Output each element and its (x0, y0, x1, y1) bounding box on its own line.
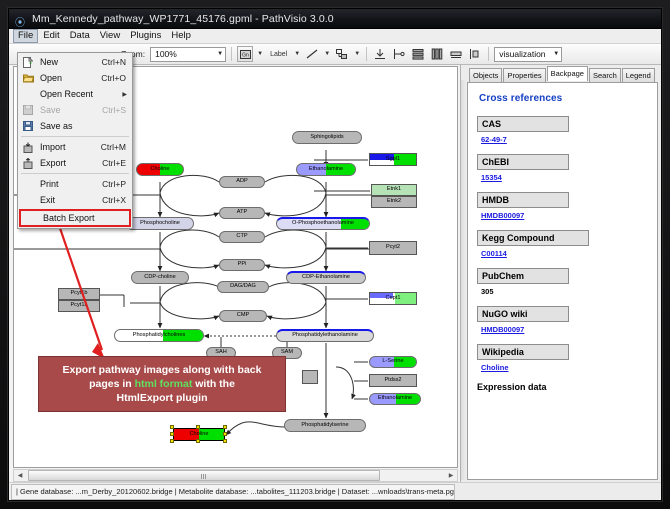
side-panel-gutter (461, 80, 466, 480)
menu-help[interactable]: Help (166, 29, 196, 43)
node-atp[interactable]: ATP (219, 207, 265, 219)
node-phosphocholine[interactable]: Phosphocholine (126, 217, 194, 230)
no-icon-4 (23, 212, 39, 225)
file-menu-dropdown[interactable]: New Ctrl+N Open Ctrl+O Open Recent ▶ Sav… (17, 52, 133, 229)
selection-handle-nw[interactable] (170, 425, 174, 429)
cross-references-title: Cross references (479, 93, 648, 104)
visualization-value: visualization (499, 49, 545, 59)
menu-item-new[interactable]: New Ctrl+N (18, 54, 132, 70)
shape-button[interactable] (334, 46, 350, 62)
label-button[interactable]: Label (267, 49, 290, 60)
scroll-right-arrow-icon[interactable]: ▶ (445, 472, 457, 479)
import-icon (20, 141, 36, 154)
side-panel-tabs[interactable]: Objects Properties Backpage Search Legen… (463, 67, 658, 82)
node-pcyt2[interactable]: Pcyt2 (369, 241, 417, 255)
node-ethanolamine-top[interactable]: Ethanolamine (296, 163, 356, 176)
node-phosphatidylcholines[interactable]: Phosphatidylcholines (114, 329, 204, 342)
node-o-phosphoethanolamine[interactable]: O-Phosphoethanolamine (276, 217, 370, 230)
tab-legend[interactable]: Legend (622, 68, 655, 82)
node-cept1[interactable]: Cept1 (369, 292, 417, 305)
node-cmp[interactable]: CMP (219, 310, 267, 322)
selection-handle-s[interactable] (196, 439, 200, 443)
toolbar-separator-2 (366, 47, 367, 61)
line-button[interactable] (304, 46, 320, 62)
menu-item-print[interactable]: Print Ctrl+P (18, 176, 132, 192)
menu-item-open-recent[interactable]: Open Recent ▶ (18, 86, 132, 102)
zoom-value: 100% (155, 49, 177, 59)
export-icon (20, 157, 36, 170)
same-height-button[interactable] (467, 46, 483, 62)
annotation-line2-pre: pages in (89, 378, 135, 390)
selection-handle-ne[interactable] (223, 425, 227, 429)
same-width-button[interactable] (448, 46, 464, 62)
selection-handle-sw[interactable] (170, 439, 174, 443)
line-dropdown-arrow-icon[interactable]: ▼ (323, 51, 331, 57)
window-title: Mm_Kennedy_pathway_WP1771_45176.gpml - P… (32, 13, 334, 25)
node-l-serine[interactable]: L-Serine (369, 356, 417, 368)
node-dag[interactable]: DAG/DAG (217, 281, 269, 293)
xref-header-nugo: NuGO wiki (477, 306, 569, 322)
no-icon-2 (20, 178, 36, 191)
annotation-line1: Export pathway images along with back (63, 364, 262, 376)
xref-header-kegg: Kegg Compound (477, 230, 589, 246)
node-sgpl1[interactable]: Sgpl1 (369, 153, 417, 166)
node-pcyt1a[interactable]: Pcyt1a (58, 300, 100, 312)
tab-objects[interactable]: Objects (469, 68, 502, 82)
node-cdp-choline[interactable]: CDP-choline (131, 271, 189, 284)
distribute-horizontal-button[interactable] (429, 46, 445, 62)
menu-item-save: Save Ctrl+S (18, 102, 132, 118)
shape-gray-small[interactable] (302, 370, 318, 384)
selection-handle-se[interactable] (223, 439, 227, 443)
selection-handle-w[interactable] (170, 432, 174, 436)
node-choline-top[interactable]: Choline (136, 163, 184, 176)
node-etnk1[interactable]: Etnk1 (371, 184, 417, 196)
menu-item-import[interactable]: Import Ctrl+M (18, 139, 132, 155)
zoom-combo[interactable]: 100% ▼ (150, 47, 226, 62)
open-folder-icon (20, 72, 36, 85)
node-adp[interactable]: ADP (219, 176, 265, 188)
tab-properties[interactable]: Properties (503, 68, 545, 82)
scrollbar-track[interactable] (26, 470, 445, 481)
status-databases-text: | Gene database: ...m_Derby_20120602.bri… (11, 484, 455, 500)
label-dropdown-arrow-icon[interactable]: ▼ (293, 51, 301, 57)
save-disk-icon (20, 104, 36, 117)
node-ppi[interactable]: PPi (219, 259, 265, 271)
xref-value-kegg[interactable]: C00114 (481, 249, 648, 258)
node-phosphatidylserine[interactable]: Phosphatidylserine (284, 419, 366, 432)
submenu-arrow-icon: ▶ (122, 91, 132, 98)
annotation-callout: Export pathway images along with back pa… (38, 356, 286, 412)
xref-header-pubchem: PubChem (477, 268, 569, 284)
backpage-content[interactable]: Cross references CAS 62-49-7 ChEBI 15354… (467, 82, 658, 480)
node-ptdss2[interactable]: Ptdss2 (369, 374, 417, 387)
shape-dropdown-arrow-icon[interactable]: ▼ (353, 51, 361, 57)
toolbar-separator-3 (488, 47, 489, 61)
tab-search[interactable]: Search (589, 68, 621, 82)
node-pcyt1b[interactable]: Pcyt1b (58, 288, 100, 300)
chevron-down-icon: ▼ (217, 51, 223, 57)
menu-view[interactable]: View (95, 29, 125, 43)
annotation-highlight: html format (135, 378, 193, 390)
tab-backpage[interactable]: Backpage (547, 66, 588, 81)
scroll-left-arrow-icon[interactable]: ◀ (14, 472, 26, 479)
no-icon-3 (20, 194, 36, 207)
side-panel: Objects Properties Backpage Search Legen… (461, 65, 661, 482)
menu-file[interactable]: File (13, 29, 38, 43)
xref-value-hmdb[interactable]: HMDB00097 (481, 211, 648, 220)
menu-separator-1 (21, 136, 129, 137)
expression-data-heading: Expression data (477, 382, 648, 392)
menu-item-batch-export[interactable]: Batch Export (19, 209, 131, 227)
xref-header-chebi: ChEBI (477, 154, 569, 170)
menu-edit[interactable]: Edit (38, 29, 64, 43)
scrollbar-grip-icon (201, 474, 207, 479)
menu-data[interactable]: Data (65, 29, 95, 43)
align-top-button[interactable] (372, 46, 388, 62)
xref-header-wikipedia: Wikipedia (477, 344, 569, 360)
distribute-vertical-button[interactable] (410, 46, 426, 62)
screenshot-root: ⦿ Mm_Kennedy_pathway_WP1771_45176.gpml -… (0, 0, 670, 509)
selection-handle-n[interactable] (196, 425, 200, 429)
selection-handle-e[interactable] (223, 432, 227, 436)
pathvisio-application-window: ⦿ Mm_Kennedy_pathway_WP1771_45176.gpml -… (8, 8, 662, 501)
xref-value-pubchem: 305 (481, 287, 648, 296)
xref-value-cas[interactable]: 62-49-7 (481, 135, 648, 144)
menu-bar[interactable]: File Edit Data View Plugins Help (9, 29, 661, 44)
annotation-line2-post: with the (192, 378, 235, 390)
xref-value-nugo[interactable]: HMDB00097 (481, 325, 648, 334)
title-bar: ⦿ Mm_Kennedy_pathway_WP1771_45176.gpml -… (9, 9, 661, 29)
align-left-button[interactable] (391, 46, 407, 62)
menu-plugins[interactable]: Plugins (125, 29, 166, 43)
xref-value-chebi[interactable]: 15354 (481, 173, 648, 182)
node-etnk2[interactable]: Etnk2 (371, 196, 417, 208)
annotation-line3: HtmlExport plugin (117, 392, 208, 404)
node-cdp-ethanolamine[interactable]: CDP-Ethanolamine (286, 271, 366, 284)
node-ethanolamine-right[interactable]: Ethanolamine (369, 393, 421, 405)
svg-text:Gn: Gn (242, 52, 249, 58)
save-as-icon (20, 120, 36, 133)
pathvisio-app-icon: ⦿ (15, 13, 27, 25)
menu-item-export[interactable]: Export Ctrl+E (18, 155, 132, 171)
node-sphingolipids[interactable]: Sphingolipids (292, 131, 362, 144)
menu-separator-2 (21, 173, 129, 174)
visualization-combo[interactable]: visualization ▼ (494, 47, 562, 62)
scrollbar-thumb[interactable] (28, 470, 380, 481)
datanode-dropdown-arrow-icon[interactable]: ▼ (256, 51, 264, 57)
menu-item-save-as[interactable]: Save as (18, 118, 132, 134)
menu-item-exit[interactable]: Exit Ctrl+X (18, 192, 132, 208)
chevron-down-icon-2: ▼ (553, 51, 559, 57)
no-icon (20, 88, 36, 101)
toolbar-separator (231, 47, 232, 61)
menu-item-open[interactable]: Open Ctrl+O (18, 70, 132, 86)
xref-header-cas: CAS (477, 116, 569, 132)
canvas-horizontal-scrollbar[interactable]: ◀ ▶ (13, 469, 458, 482)
node-phosphatidylethanolamine[interactable]: Phosphatidylethanolamine (276, 329, 374, 342)
status-bar: | Gene database: ...m_Derby_20120602.bri… (9, 482, 661, 500)
node-ctp[interactable]: CTP (219, 231, 265, 243)
xref-value-wikipedia[interactable]: Choline (481, 363, 648, 372)
datanode-button[interactable]: Gn (237, 46, 253, 62)
xref-header-hmdb: HMDB (477, 192, 569, 208)
new-file-icon (20, 56, 36, 69)
